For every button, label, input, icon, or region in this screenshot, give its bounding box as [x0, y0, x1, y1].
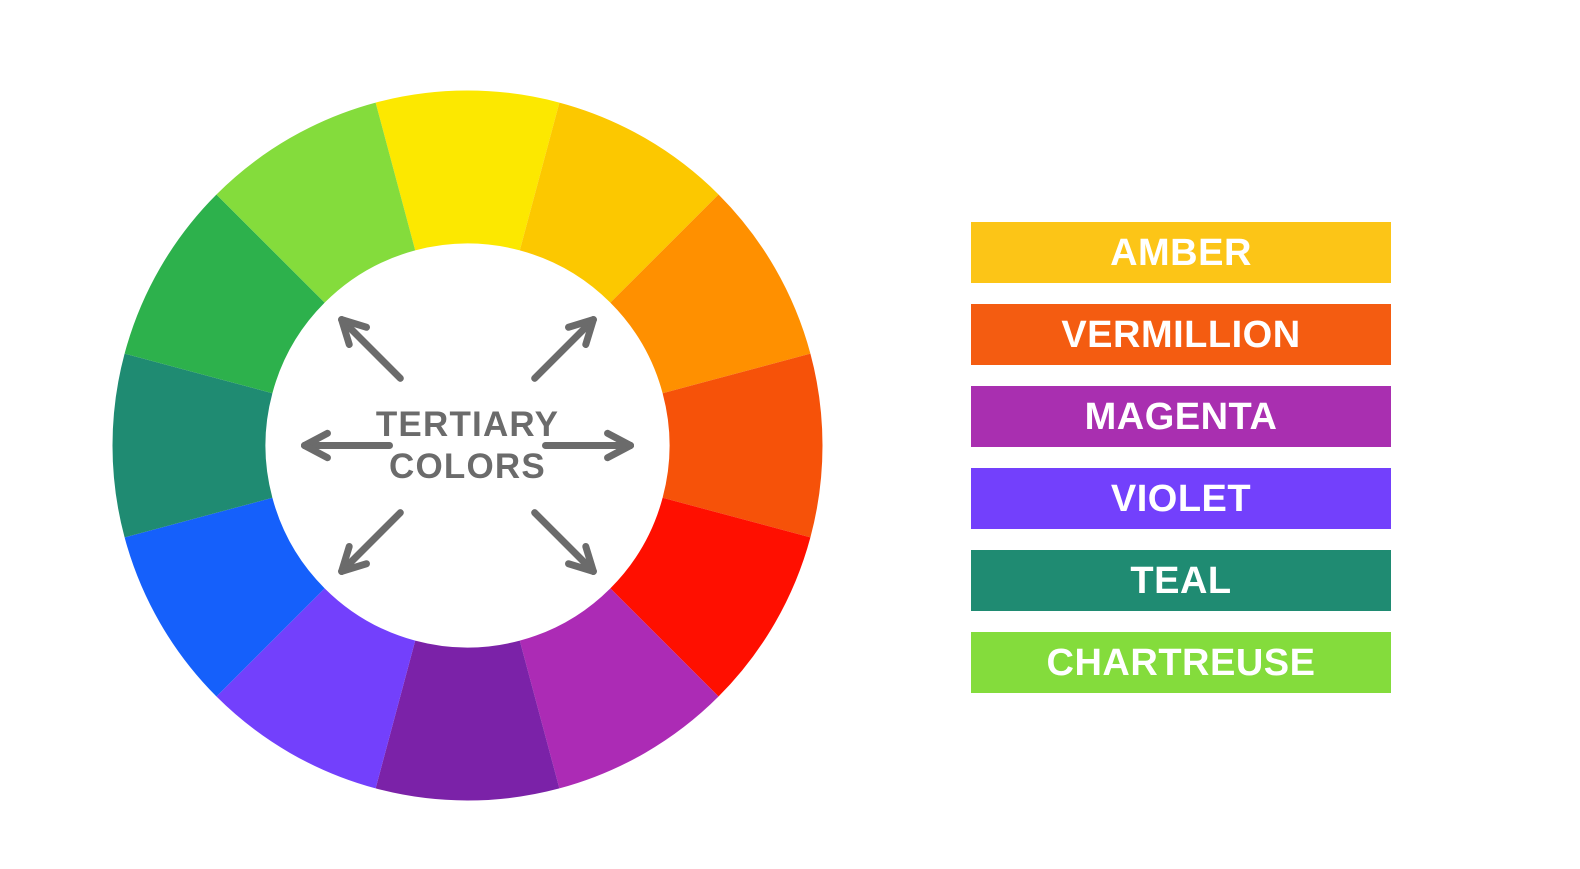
- wheel-arrow-group: [305, 320, 631, 572]
- color-wheel-svg: [110, 88, 825, 803]
- arrow-up-left-icon: [342, 320, 401, 379]
- color-wheel-infographic: TERTIARY COLORS AMBERVERMILLIONMAGENTAVI…: [0, 0, 1580, 869]
- legend-item-label: MAGENTA: [1085, 398, 1278, 436]
- legend-item-magenta[interactable]: MAGENTA: [971, 386, 1391, 447]
- legend-item-label: CHARTREUSE: [1047, 644, 1316, 682]
- arrow-down-right-icon: [535, 513, 594, 572]
- legend-item-vermillion[interactable]: VERMILLION: [971, 304, 1391, 365]
- legend-item-teal[interactable]: TEAL: [971, 550, 1391, 611]
- color-wheel: TERTIARY COLORS: [110, 88, 825, 803]
- legend-item-label: VIOLET: [1111, 480, 1251, 518]
- legend-item-chartreuse[interactable]: CHARTREUSE: [971, 632, 1391, 693]
- legend-item-label: VERMILLION: [1061, 316, 1300, 354]
- legend-item-label: TEAL: [1130, 562, 1231, 600]
- arrow-left-icon: [305, 433, 390, 457]
- legend-item-amber[interactable]: AMBER: [971, 222, 1391, 283]
- arrow-down-left-icon: [342, 513, 401, 572]
- legend-item-violet[interactable]: VIOLET: [971, 468, 1391, 529]
- wheel-segment-group: [113, 91, 823, 801]
- tertiary-color-legend: AMBERVERMILLIONMAGENTAVIOLETTEALCHARTREU…: [971, 222, 1391, 693]
- arrow-right-icon: [546, 433, 631, 457]
- legend-item-label: AMBER: [1110, 234, 1252, 272]
- arrow-up-right-icon: [535, 320, 594, 379]
